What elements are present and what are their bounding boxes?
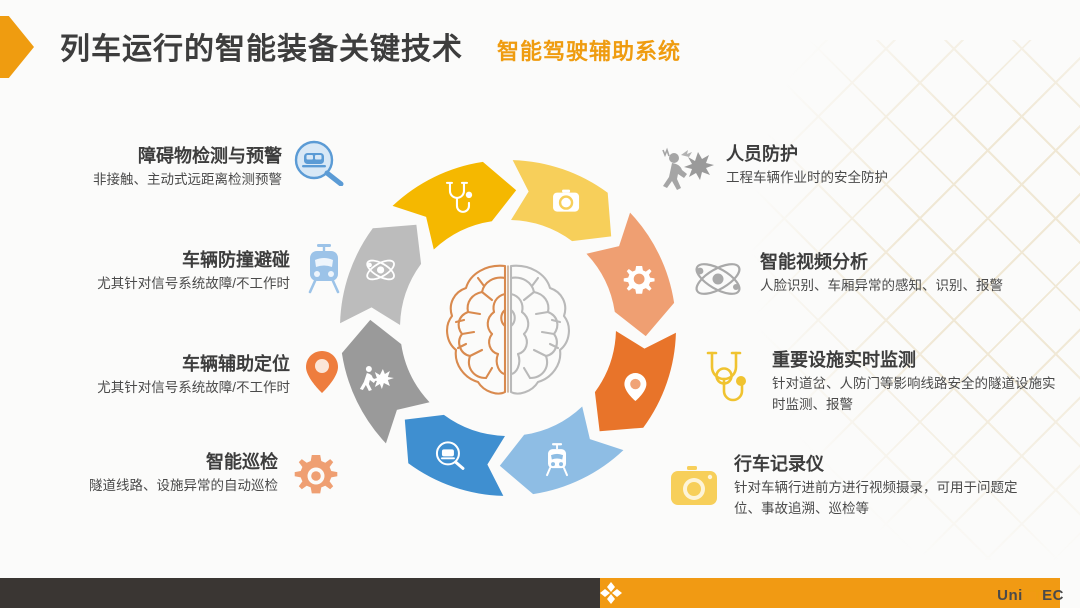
feature-title: 障碍物检测与预警: [36, 144, 282, 168]
feature-item-video-analysis[interactable]: 智能视频分析 人脸识别、车厢异常的感知、识别、报警: [690, 250, 1060, 311]
logo-suffix: EC: [1042, 587, 1064, 604]
header-arrow-icon: [0, 16, 34, 78]
feature-title: 重要设施实时监测: [772, 348, 1060, 372]
feature-desc: 隧道线路、设施异常的自动巡检: [20, 476, 278, 497]
gear-icon: [292, 452, 340, 505]
footer-dark-bar: [0, 578, 620, 608]
feature-desc: 工程车辆作业时的安全防护: [726, 168, 1044, 189]
brand-logo: UniTTEC: [997, 587, 1064, 604]
feature-title: 智能巡检: [20, 450, 278, 474]
atom-icon: [690, 252, 746, 311]
feature-desc: 人脸识别、车厢异常的感知、识别、报警: [760, 276, 1040, 297]
feature-item-facility-monitoring[interactable]: 重要设施实时监测 针对道岔、人防门等影响线路安全的隧道设施实时监测、报警: [700, 348, 1060, 416]
feature-desc: 非接触、主动式远距离检测预警: [36, 170, 282, 191]
logo-accent: TT: [1023, 587, 1042, 604]
slide-footer: UniTTEC: [0, 578, 1080, 608]
feature-item-assisted-positioning[interactable]: 车辆辅助定位 尤其针对信号系统故障/不工作时: [10, 352, 340, 401]
feature-title: 人员防护: [726, 142, 1044, 166]
page-title: 列车运行的智能装备关键技术: [60, 24, 463, 68]
feature-item-collision-avoidance[interactable]: 车辆防撞避碰 尤其针对信号系统故障/不工作时: [10, 248, 346, 299]
feature-desc: 针对车辆行进前方进行视频摄录，可用于问题定位、事故追溯、巡检等: [734, 478, 1044, 520]
wheel-segment[interactable]: [405, 415, 505, 496]
logo-prefix: Uni: [997, 587, 1023, 604]
feature-item-personnel-protection[interactable]: 人员防护 工程车辆作业时的安全防护: [654, 142, 1044, 199]
title-row: 列车运行的智能装备关键技术 智能驾驶辅助系统: [60, 24, 681, 68]
slide-header: 列车运行的智能装备关键技术 智能驾驶辅助系统: [0, 0, 1080, 96]
feature-item-intelligent-inspection[interactable]: 智能巡检 隧道线路、设施异常的自动巡检: [20, 450, 340, 505]
wheel-segment[interactable]: [340, 225, 421, 325]
feature-title: 车辆辅助定位: [10, 352, 290, 376]
stethoscope-icon: [700, 348, 758, 415]
feature-title: 智能视频分析: [760, 250, 1060, 274]
map-pin-icon: [304, 348, 340, 401]
page-subtitle: 智能驾驶辅助系统: [497, 34, 681, 66]
capability-wheel: [338, 158, 678, 498]
gear-icon: [624, 266, 655, 294]
feature-desc: 针对道岔、人防门等影响线路安全的隧道设施实时监测、报警: [772, 374, 1060, 416]
feature-item-obstacle-detection[interactable]: 障碍物检测与预警 非接触、主动式远距离检测预警: [36, 144, 346, 191]
feature-desc: 尤其针对信号系统故障/不工作时: [10, 378, 290, 399]
camera-icon: [553, 190, 579, 212]
feature-title: 行车记录仪: [734, 452, 1068, 476]
feature-item-dashcam[interactable]: 行车记录仪 针对车辆行进前方进行视频摄录，可用于问题定位、事故追溯、巡检等: [668, 452, 1068, 520]
footer-orange-bar: [600, 578, 1060, 608]
feature-desc: 尤其针对信号系统故障/不工作时: [10, 274, 290, 295]
brand-emblem-icon: [598, 580, 624, 606]
feature-title: 车辆防撞避碰: [10, 248, 290, 272]
brain-icon: [447, 266, 569, 394]
